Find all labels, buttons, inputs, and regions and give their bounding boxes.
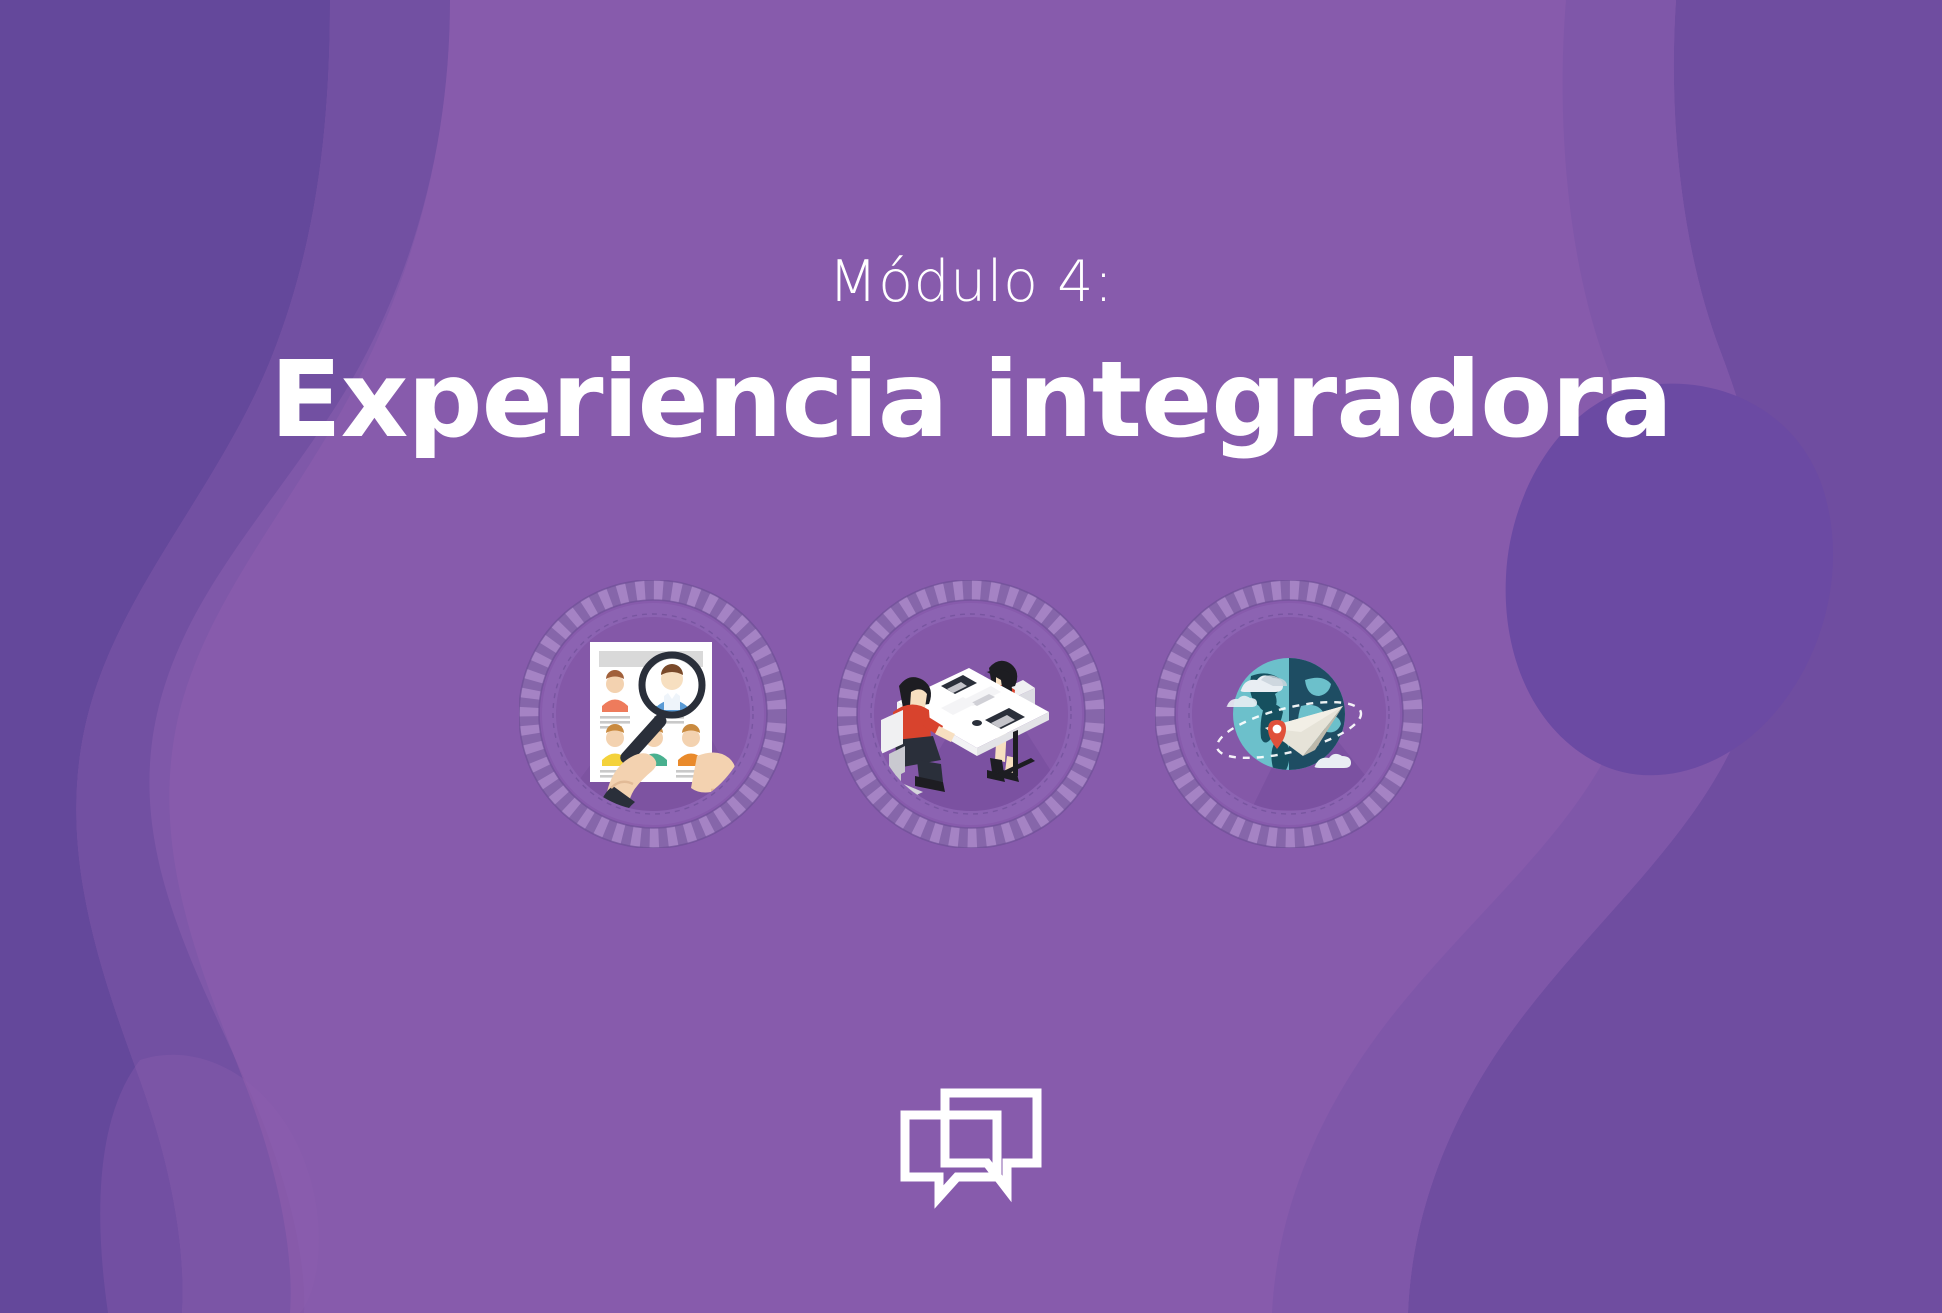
module-subtitle: Módulo 4: bbox=[0, 253, 1942, 313]
badge-row bbox=[0, 580, 1942, 848]
badge-candidate-screening bbox=[519, 580, 787, 848]
slide-canvas: Módulo 4: Experiencia integradora bbox=[0, 0, 1942, 1313]
double-speech-bubble-logo-icon bbox=[897, 1085, 1045, 1211]
badge-job-interview bbox=[837, 580, 1105, 848]
footer-logo bbox=[0, 1085, 1942, 1211]
page-title: Experiencia integradora bbox=[0, 345, 1942, 455]
badge-global-reach bbox=[1155, 580, 1423, 848]
